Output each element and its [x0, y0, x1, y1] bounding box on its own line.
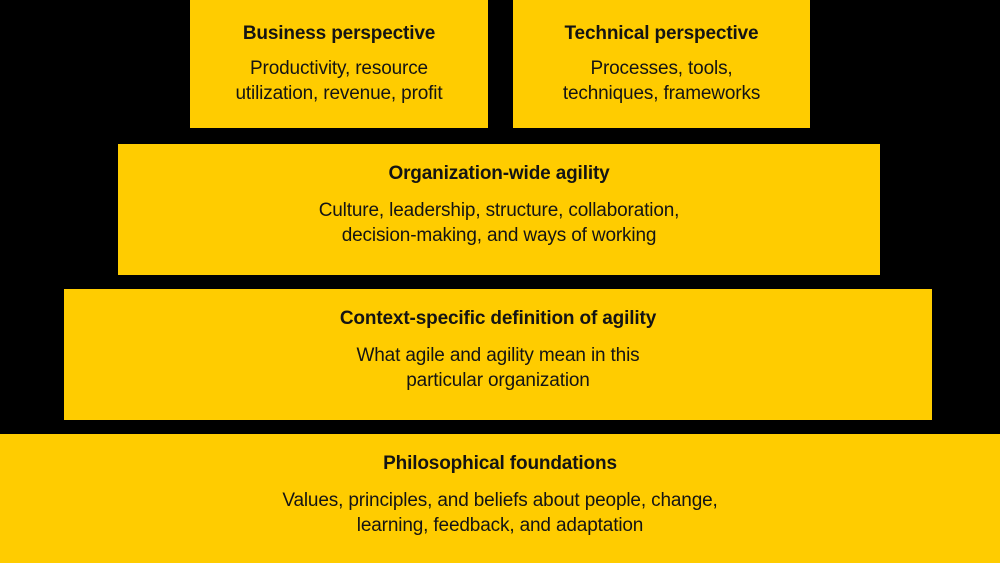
tier-description-line: What agile and agility mean in this: [356, 343, 639, 368]
diagram-canvas: Business perspective Productivity, resou…: [0, 0, 1000, 563]
tier-business-perspective: Business perspective Productivity, resou…: [190, 0, 488, 128]
tier-description-line: techniques, frameworks: [563, 81, 760, 106]
tier-description-context-specific-definition: What agile and agility mean in this part…: [356, 343, 639, 393]
tier-description-line: learning, feedback, and adaptation: [282, 513, 717, 538]
tier-title-business-perspective: Business perspective: [243, 22, 435, 46]
tier-title-philosophical-foundations: Philosophical foundations: [383, 452, 617, 476]
tier-description-line: Productivity, resource: [235, 56, 442, 81]
tier-description-line: Culture, leadership, structure, collabor…: [319, 198, 680, 223]
tier-description-line: Values, principles, and beliefs about pe…: [282, 488, 717, 513]
tier-description-line: decision-making, and ways of working: [319, 223, 680, 248]
tier-description-line: Processes, tools,: [563, 56, 760, 81]
tier-organization-wide-agility: Organization-wide agility Culture, leade…: [118, 144, 880, 275]
tier-title-technical-perspective: Technical perspective: [565, 22, 759, 46]
tier-philosophical-foundations: Philosophical foundations Values, princi…: [0, 434, 1000, 563]
tier-title-organization-wide-agility: Organization-wide agility: [388, 162, 609, 186]
tier-description-technical-perspective: Processes, tools, techniques, frameworks: [563, 56, 760, 106]
tier-description-organization-wide-agility: Culture, leadership, structure, collabor…: [319, 198, 680, 248]
tier-description-philosophical-foundations: Values, principles, and beliefs about pe…: [282, 488, 717, 538]
tier-description-business-perspective: Productivity, resource utilization, reve…: [235, 56, 442, 106]
tier-technical-perspective: Technical perspective Processes, tools, …: [513, 0, 810, 128]
tier-description-line: utilization, revenue, profit: [235, 81, 442, 106]
tier-context-specific-definition: Context-specific definition of agility W…: [64, 289, 932, 420]
tier-title-context-specific-definition: Context-specific definition of agility: [340, 307, 656, 331]
tier-description-line: particular organization: [356, 368, 639, 393]
